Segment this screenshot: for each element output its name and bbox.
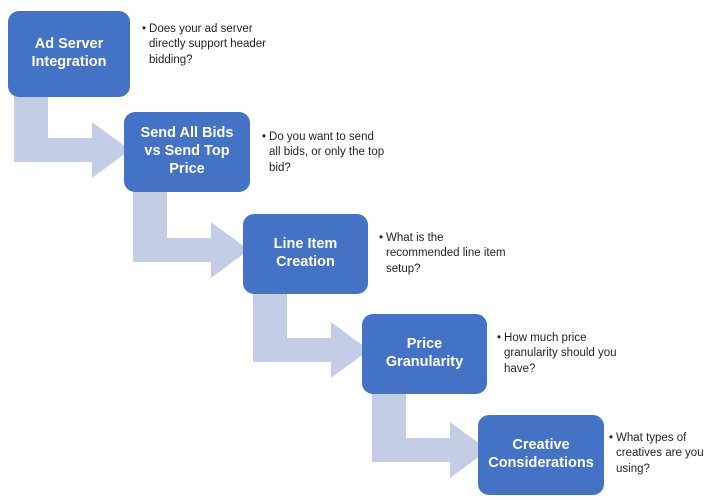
node-label-price-granularity: Price Granularity bbox=[386, 336, 463, 371]
bullet-text-send-all-bids-vs-send-top-price: Do you want to send all bids, or only th… bbox=[269, 130, 386, 176]
node-label-creative-considerations: Creative Considerations bbox=[488, 437, 594, 472]
bullet-text-line-item-creation: What is the recommended line item setup? bbox=[386, 231, 507, 277]
bullet-text-price-granularity: How much price granularity should you ha… bbox=[504, 331, 625, 377]
bullet-dot-icon: • bbox=[609, 431, 613, 446]
bullet-dot-icon: • bbox=[497, 331, 501, 346]
node-label-send-all-bids-vs-send-top-price: Send All Bids vs Send Top Price bbox=[141, 125, 234, 178]
connector-step1-to-step2 bbox=[14, 92, 130, 178]
connector-step3-to-step4 bbox=[253, 292, 369, 378]
bullet-price-granularity: • How much price granularity should you … bbox=[497, 331, 625, 377]
connector-step4-to-step5 bbox=[372, 392, 488, 478]
connector-step2-to-step3 bbox=[133, 192, 249, 278]
bullet-send-all-bids-vs-send-top-price: • Do you want to send all bids, or only … bbox=[262, 130, 386, 176]
bullet-text-creative-considerations: What types of creatives are you using? bbox=[616, 431, 721, 477]
bullet-ad-server-integration: • Does your ad server directly support h… bbox=[142, 22, 292, 68]
bullet-creative-considerations: • What types of creatives are you using? bbox=[609, 431, 721, 477]
node-creative-considerations[interactable]: Creative Considerations bbox=[478, 415, 604, 495]
bullet-text-ad-server-integration: Does your ad server directly support hea… bbox=[149, 22, 292, 68]
bullet-dot-icon: • bbox=[379, 231, 383, 246]
bullet-dot-icon: • bbox=[142, 22, 146, 37]
node-send-all-bids-vs-send-top-price[interactable]: Send All Bids vs Send Top Price bbox=[124, 112, 250, 192]
bullet-dot-icon: • bbox=[262, 130, 266, 145]
node-ad-server-integration[interactable]: Ad Server Integration bbox=[8, 11, 130, 97]
node-label-line-item-creation: Line Item Creation bbox=[274, 236, 338, 271]
node-price-granularity[interactable]: Price Granularity bbox=[362, 314, 487, 394]
node-label-ad-server-integration: Ad Server Integration bbox=[32, 36, 107, 71]
flowchart-canvas: Ad Server Integration • Does your ad ser… bbox=[0, 0, 723, 500]
node-line-item-creation[interactable]: Line Item Creation bbox=[243, 214, 368, 294]
bullet-line-item-creation: • What is the recommended line item setu… bbox=[379, 231, 507, 277]
